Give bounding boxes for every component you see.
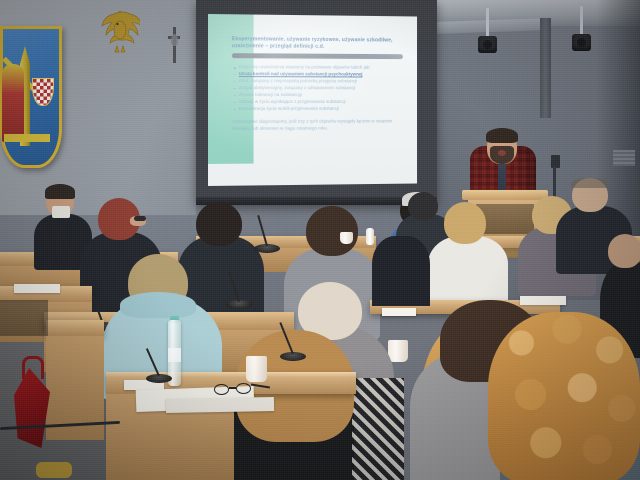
- screen-surface: Eksperymentowanie, używanie ryzykowne, u…: [208, 14, 417, 186]
- audience-head: [608, 234, 640, 268]
- presenter-hair: [486, 128, 518, 143]
- projection-screen: Eksperymentowanie, używanie ryzykowne, u…: [196, 0, 437, 205]
- wall-speaker-icon: [478, 36, 497, 53]
- audience-torso: [428, 236, 508, 306]
- lectern-top: [462, 190, 548, 200]
- desk-edge: [106, 372, 356, 378]
- audience-hair: [196, 202, 242, 246]
- documents: [382, 308, 416, 316]
- audience-hair: [571, 178, 609, 188]
- wall-vent: [613, 150, 635, 166]
- eyeglasses: [214, 383, 270, 396]
- polish-eagle-emblem: [100, 8, 140, 56]
- slide-bullet: Szkody w życiu wynikające z przyjmowania…: [239, 99, 410, 105]
- slide-bullet: Koncentracja życia wokół przyjmowania su…: [239, 106, 410, 113]
- presenter-mouth: [498, 150, 506, 156]
- shadow-under-desk: [0, 300, 48, 336]
- documents: [520, 296, 566, 305]
- audience-hair: [45, 184, 75, 199]
- desk-side: [46, 320, 104, 336]
- bottle-label: [168, 348, 181, 362]
- shirt-collar: [52, 206, 70, 218]
- slide-bullet: Diagnozę uzależnienia stawiamy na podsta…: [239, 64, 410, 71]
- audience-hair: [306, 206, 358, 256]
- slide-bullet: Głód, związany z nieprzepartą potrzebą p…: [239, 78, 410, 85]
- slide-bullet-list: Diagnozę uzależnienia stawiamy na podsta…: [232, 64, 410, 112]
- presentation-slide: Eksperymentowanie, używanie ryzykowne, u…: [208, 14, 417, 186]
- audience-hair: [488, 312, 640, 480]
- crucifix: [168, 27, 180, 63]
- city-coat-of-arms: [0, 26, 62, 168]
- yellow-object: [36, 462, 72, 478]
- audience-hair: [444, 202, 486, 244]
- lecture-room-photo: Eksperymentowanie, używanie ryzykowne, u…: [0, 0, 640, 480]
- documents: [166, 397, 274, 413]
- speaker-mount-rod: [580, 6, 583, 34]
- slide-footer-text: Uzależnienie diagnozujemy, jeśli trzy z …: [232, 119, 410, 132]
- eyeglasses-icon: [134, 216, 146, 221]
- slide-bullet: Zespół abstynencyjny, związany z odstawi…: [239, 85, 410, 92]
- paper-cup: [340, 232, 353, 244]
- wall-speaker-icon: [572, 34, 591, 51]
- audience-torso: [372, 236, 430, 306]
- slide-title-line-2: uzależnienie – przegląd definicji c.d.: [232, 43, 410, 51]
- slide-divider: [232, 53, 403, 59]
- small-bottle: [366, 228, 374, 245]
- patterned-garment: [352, 378, 404, 480]
- slide-bullet: Zmiana tolerancji na substancję: [239, 92, 410, 98]
- paper-cup: [246, 356, 267, 382]
- hood: [120, 292, 196, 318]
- paper-cup: [388, 340, 408, 362]
- speaker-mount-rod: [486, 8, 489, 36]
- documents: [14, 284, 60, 293]
- wall-pillar: [540, 18, 551, 118]
- slide-bullet: Utrata kontroli nad używaniem substancji…: [239, 71, 410, 78]
- audience-hair: [408, 192, 438, 220]
